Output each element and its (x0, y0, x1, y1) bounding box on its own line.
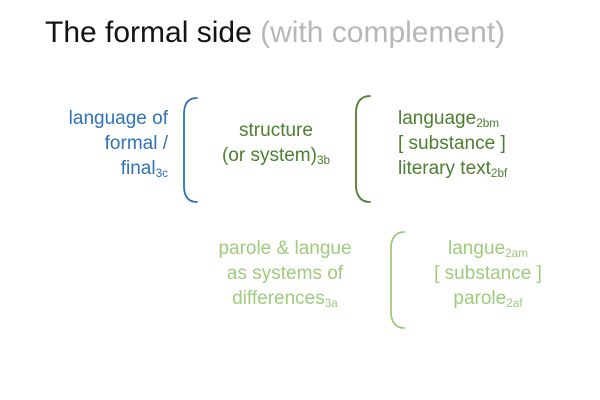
line-or-system-3b: (or system)3b (196, 143, 356, 168)
line-language-of: language of (18, 106, 168, 131)
line-final-3c: final3c (18, 156, 168, 181)
line-substance-lower: [ substance ] (408, 261, 568, 286)
block-structure-or-system: structure (or system)3b (196, 118, 356, 168)
block-langue-substance-parole: langue2am [ substance ] parole2af (408, 236, 568, 311)
subscript-2af: 2af (506, 297, 522, 310)
subscript-2bm: 2bm (476, 117, 499, 130)
brace-light-green-icon (388, 230, 406, 330)
page-title-complement: (with complement) (260, 16, 505, 49)
subscript-3c: 3c (156, 167, 168, 180)
line-langue-2am: langue2am (408, 236, 568, 261)
brace-dark-green-icon (353, 94, 372, 204)
line-language-2bm: language2bm (398, 106, 578, 131)
line-as-systems-of: as systems of (186, 261, 384, 286)
line-substance-upper: [ substance ] (398, 131, 578, 156)
subscript-3a: 3a (325, 297, 338, 310)
line-parole-and-langue: parole & langue (186, 236, 384, 261)
line-formal-slash: formal / (18, 131, 168, 156)
page-title-main: The formal side (45, 16, 252, 49)
block-parole-langue-systems: parole & langue as systems of difference… (186, 236, 384, 311)
subscript-3b: 3b (317, 154, 330, 167)
page-title: The formal side (with complement) (45, 14, 505, 52)
subscript-2am: 2am (505, 247, 528, 260)
block-language-formal-final: language of formal / final3c (18, 106, 168, 181)
block-language-substance-literary-text: language2bm [ substance ] literary text2… (398, 106, 578, 181)
line-differences-3a: differences3a (186, 286, 384, 311)
line-parole-2af: parole2af (408, 286, 568, 311)
line-literary-text-2bf: literary text2bf (398, 156, 578, 181)
line-structure: structure (196, 118, 356, 143)
subscript-2bf: 2bf (491, 167, 507, 180)
